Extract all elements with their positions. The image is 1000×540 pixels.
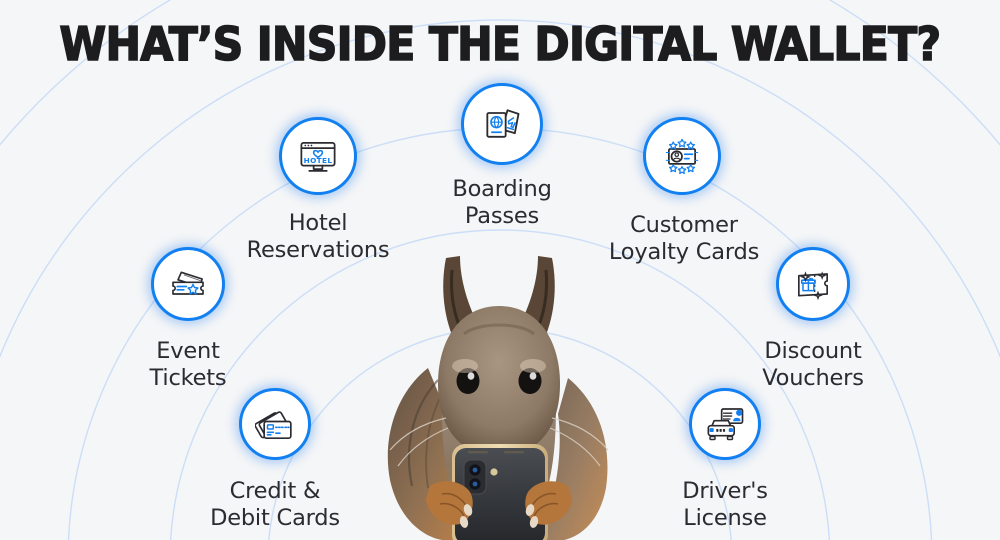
svg-text:HOTEL: HOTEL (304, 156, 333, 165)
event-tickets-bubble[interactable] (151, 247, 225, 321)
event-tickets-label: Event Tickets (66, 338, 310, 391)
event-tickets-icon (168, 264, 208, 304)
credit-debit-cards-label: Credit & Debit Cards (153, 478, 397, 531)
hotel-reservations-bubble[interactable]: HOTEL (279, 117, 357, 195)
customer-loyalty-cards-bubble[interactable] (643, 117, 721, 195)
drivers-license-car-icon (705, 404, 745, 444)
drivers-license-bubble[interactable] (689, 388, 761, 460)
discount-vouchers-bubble[interactable] (776, 247, 850, 321)
squirrel-holding-smartphone (368, 248, 630, 540)
hotel-reservations-label: Hotel Reservations (196, 210, 440, 263)
page-title: WHAT’S INSIDE THE DIGITAL WALLET? (0, 17, 1000, 71)
loyalty-card-stars-icon (661, 135, 703, 177)
credit-debit-cards-bubble[interactable] (239, 388, 311, 460)
customer-loyalty-cards-label: Customer Loyalty Cards (560, 212, 808, 265)
passport-and-plane-ticket-icon (480, 102, 524, 146)
boarding-passes-bubble[interactable] (461, 83, 543, 165)
infographic-canvas: WHAT’S INSIDE THE DIGITAL WALLET? (0, 0, 1000, 540)
discount-vouchers-label: Discount Vouchers (691, 338, 935, 391)
discount-voucher-gift-icon (793, 264, 833, 304)
drivers-license-label: Driver's License (603, 478, 847, 531)
credit-debit-cards-icon (255, 404, 295, 444)
hotel-booking-monitor-icon: HOTEL (297, 135, 339, 177)
